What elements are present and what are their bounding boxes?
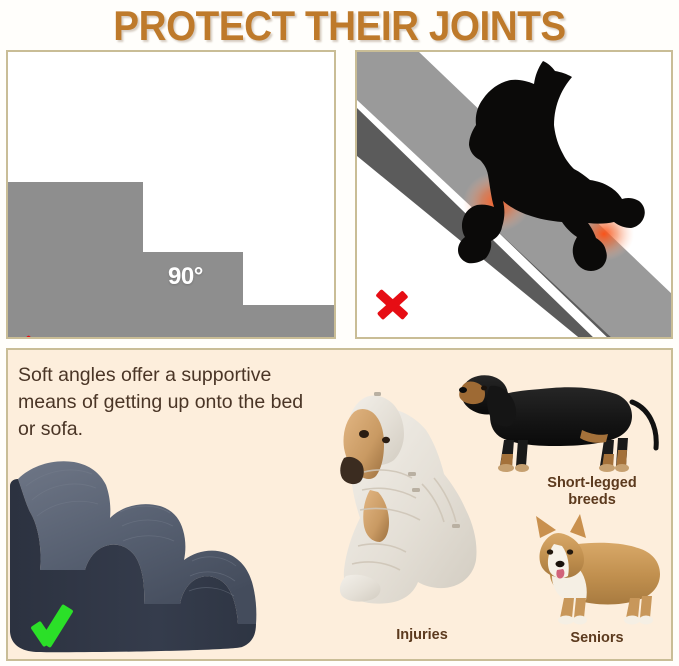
- infographic-page: PROTECT THEIR JOINTS 90°: [0, 0, 679, 666]
- red-x-icon: [18, 330, 58, 339]
- angle-label: 90°: [168, 263, 203, 291]
- corgi-nose: [556, 561, 565, 567]
- corgi-photo: [514, 514, 673, 634]
- corgi-eye-right: [567, 549, 573, 554]
- corgi-ear-right: [570, 514, 586, 538]
- dachshund-eye: [481, 386, 487, 391]
- steep-ramp-panel: [355, 50, 673, 339]
- caption-line-1: Short-leggedbreeds: [547, 475, 636, 508]
- caption-injuries: Injuries: [332, 627, 512, 644]
- caption-short-legged-breeds: Short-leggedbreeds: [507, 475, 673, 508]
- dachshund-tail: [632, 402, 656, 448]
- dog-eye-second: [382, 437, 390, 443]
- dachshund-paws: [498, 464, 629, 472]
- product-blurb: Soft angles offer a supportive means of …: [18, 362, 320, 443]
- page-title: PROTECT THEIR JOINTS: [27, 2, 652, 50]
- dachshund-photo: [456, 360, 671, 480]
- green-check-icon: [34, 602, 86, 646]
- corgi-paws: [558, 616, 653, 625]
- dachshund-nose: [459, 387, 467, 393]
- corgi-eye-left: [547, 549, 553, 554]
- red-x-icon: [371, 284, 411, 324]
- hard-angle-stairs-panel: 90°: [6, 50, 336, 339]
- dog-eye: [359, 430, 369, 438]
- caption-seniors: Seniors: [522, 630, 672, 647]
- soft-foam-pet-stairs-panel: Soft angles offer a supportive means of …: [6, 348, 673, 661]
